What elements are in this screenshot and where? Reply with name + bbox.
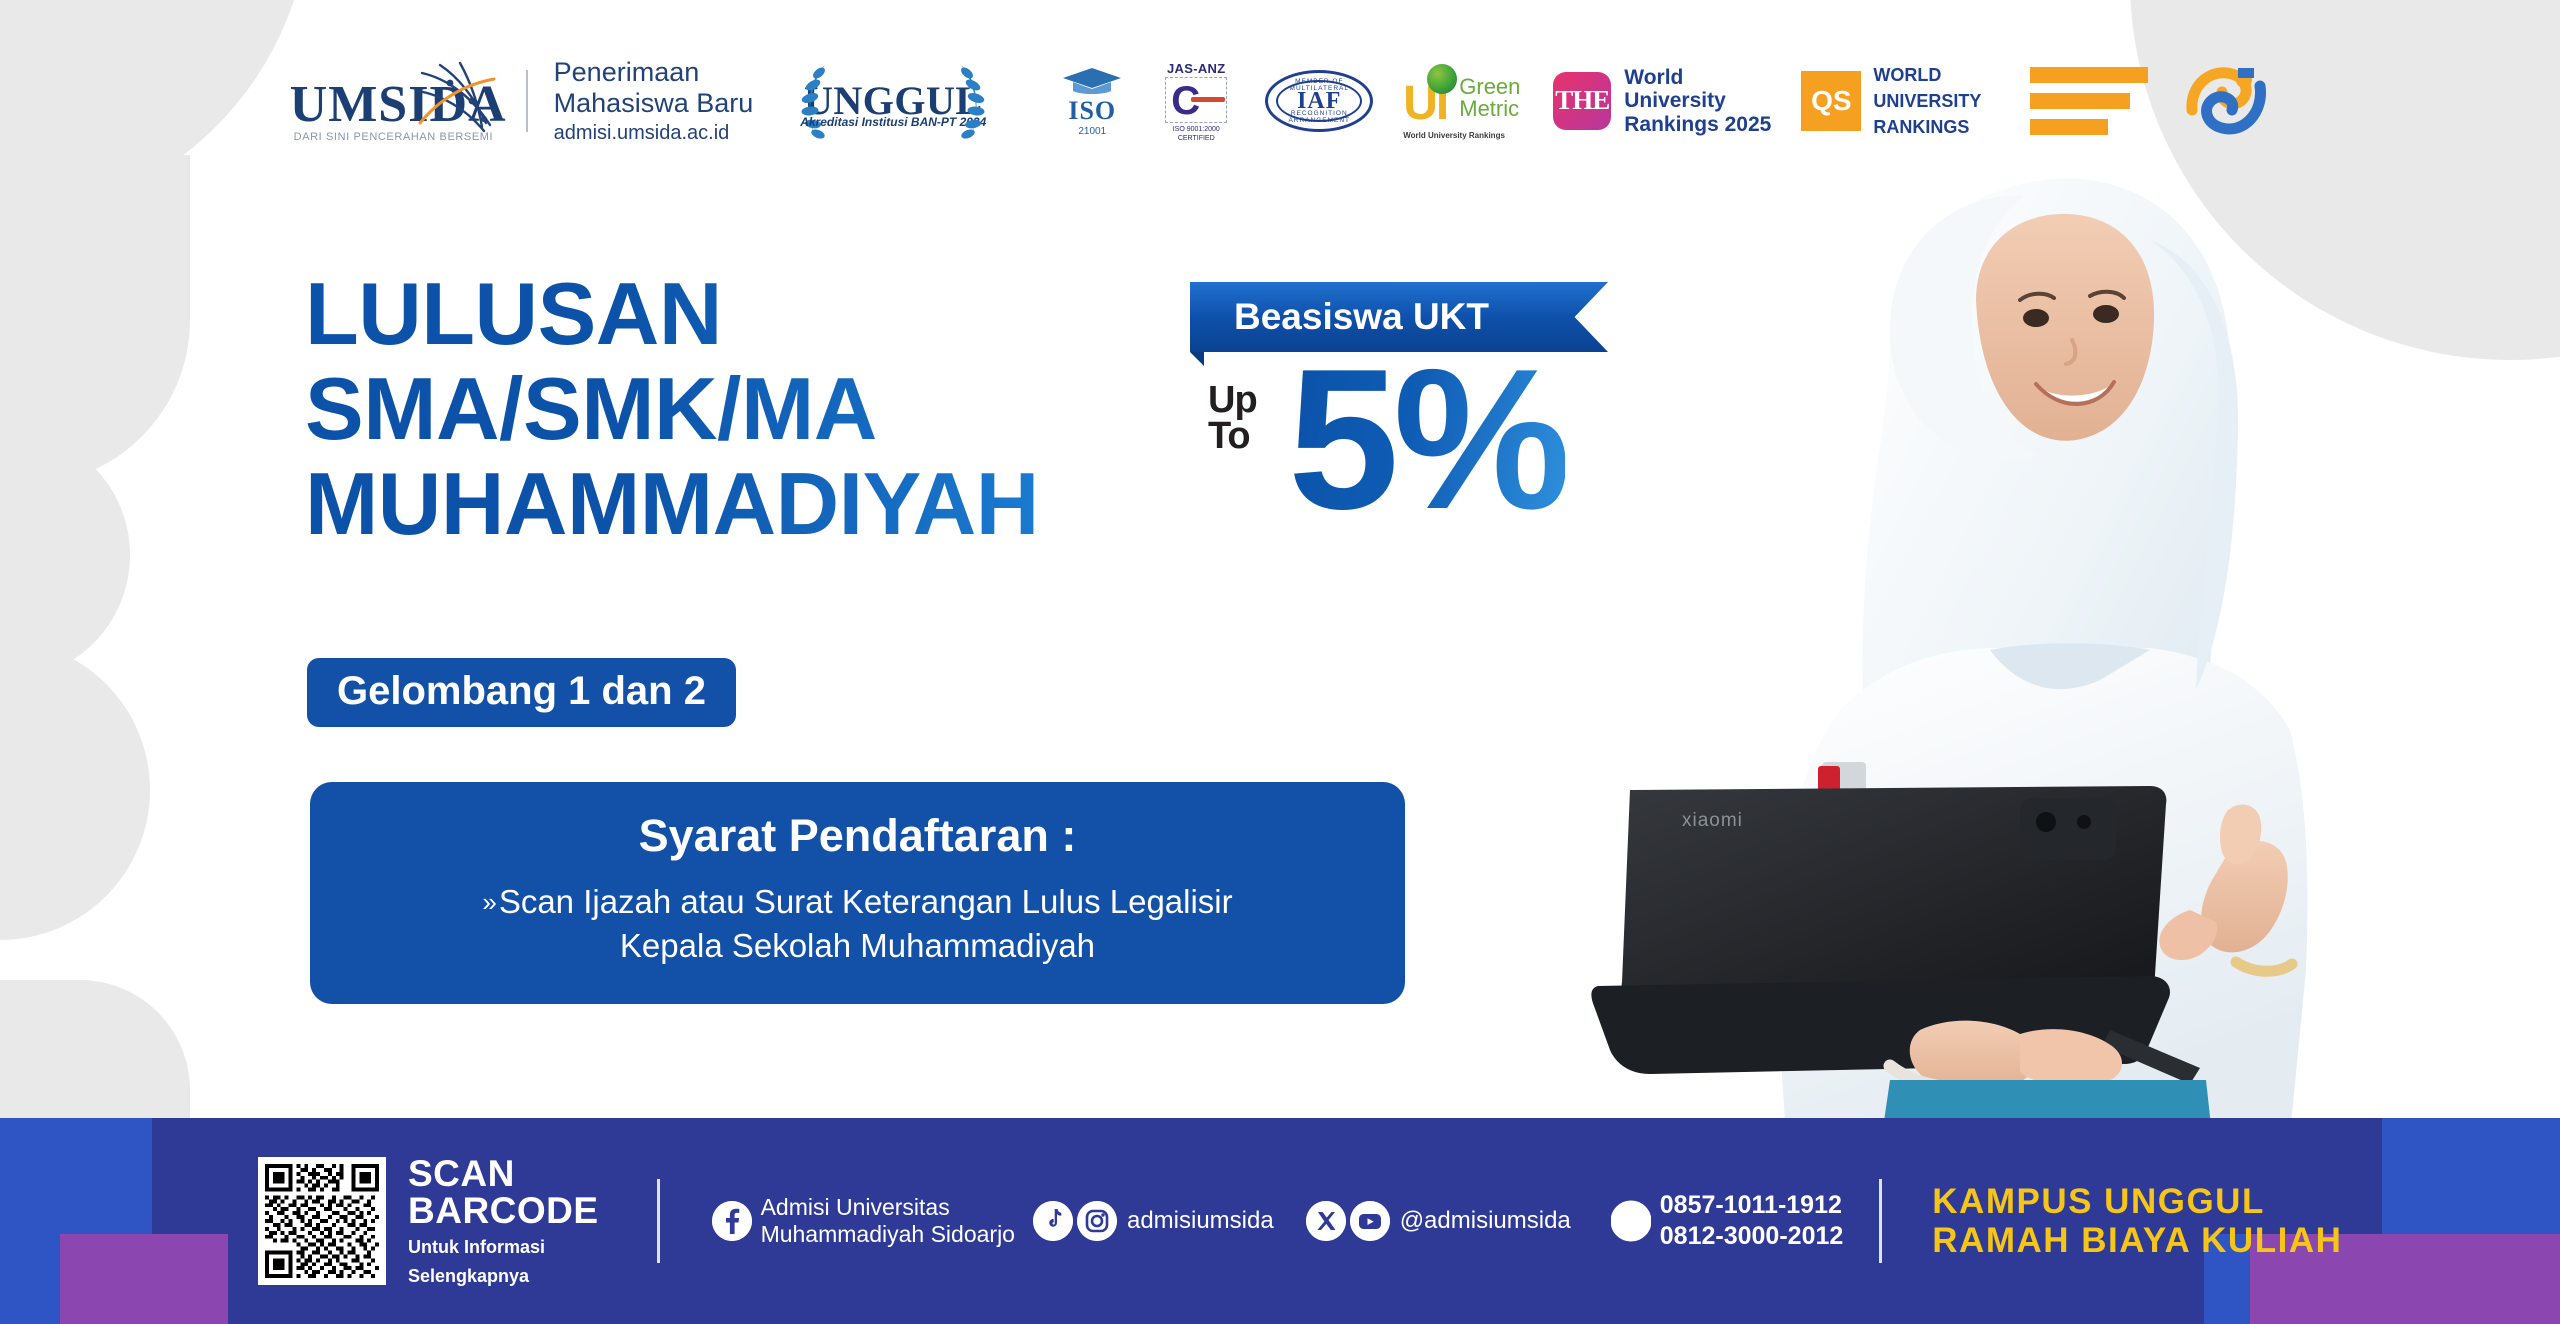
x-youtube-contact[interactable]: @admisiumsida <box>1306 1201 1571 1241</box>
header-logo-strip: UMSIDA DARI SINI PENCERAHAN BERSEMI <box>0 46 2560 156</box>
footer-divider-2 <box>1879 1179 1882 1263</box>
jas-anz-sub-1: ISO 9001:2000 <box>1173 126 1220 133</box>
ui-greenmetric-metric: Metric <box>1459 98 1520 120</box>
pmb-line-1: Penerimaan <box>554 57 754 88</box>
jas-anz-sub-2: CERTIFIED <box>1178 135 1215 142</box>
graduation-cap-icon <box>1061 66 1123 96</box>
qs-row-2: UNIVERSITY <box>1873 91 2148 112</box>
footer-divider-1 <box>657 1179 660 1263</box>
jas-anz-bar <box>1191 97 1225 102</box>
umsida-swoosh-icon <box>414 57 506 141</box>
the-rankings-text: World University Rankings 2025 <box>1624 66 1771 137</box>
ui-greenmetric-words: Green Metric <box>1459 76 1520 121</box>
tiktok-instagram-handle: admisiumsida <box>1127 1207 1274 1235</box>
ui-greenmetric-sub: World University Rankings <box>1403 131 1505 140</box>
qs-row-1: WORLD <box>1873 65 2148 86</box>
umsida-logo: UMSIDA DARI SINI PENCERAHAN BERSEMI <box>290 55 500 147</box>
requirements-title: Syarat Pendaftaran : <box>639 810 1077 862</box>
requirements-box: Syarat Pendaftaran : »Scan Ijazah atau S… <box>310 782 1405 1004</box>
headline-line-3: MUHAMMADIYAH <box>305 456 1039 551</box>
hero-headline: LULUSAN SMA/SMK/MA MUHAMMADIYAH <box>305 266 1039 551</box>
up-to-line-2: To <box>1208 418 1257 454</box>
umsida-logo-lockup: UMSIDA DARI SINI PENCERAHAN BERSEMI <box>290 55 754 147</box>
tiktok-icon <box>1033 1201 1073 1241</box>
facebook-icon <box>712 1201 752 1241</box>
facebook-contact[interactable]: Admisi Universitas Muhammadiyah Sidoarjo <box>712 1194 1015 1248</box>
globe-icon <box>1427 64 1457 94</box>
qs-bar-2 <box>2030 93 2130 109</box>
jas-anz-logo: JAS-ANZ C ISO 9001:2000 CERTIFIED <box>1157 61 1235 141</box>
headline-line-1: LULUSAN <box>305 266 1039 361</box>
up-to-label: Up To <box>1208 382 1257 454</box>
qs-line-3: RANKINGS <box>1873 117 2021 138</box>
qr-code-image <box>265 1164 379 1278</box>
tagline-line-2: RAMAH BIAYA KULIAH <box>1932 1221 2342 1260</box>
qr-code[interactable] <box>258 1157 386 1285</box>
the-mark: THE <box>1553 72 1611 130</box>
the-line-2: University <box>1624 89 1771 113</box>
youtube-icon <box>1350 1201 1390 1241</box>
phone-number-1: 0857-1011-1912 <box>1660 1191 1842 1219</box>
qs-row-3: RANKINGS <box>1873 117 2148 138</box>
qs-bar-1 <box>2030 67 2148 83</box>
the-line-1: World <box>1624 66 1771 90</box>
requirements-body: »Scan Ijazah atau Surat Keterangan Lulus… <box>482 880 1232 968</box>
tagline-line-1: KAMPUS UNGGUL <box>1932 1182 2342 1221</box>
requirements-line-1: Scan Ijazah atau Surat Keterangan Lulus … <box>499 883 1233 920</box>
footer-bar: SCAN BARCODE Untuk Informasi Selengkapny… <box>0 1118 2560 1324</box>
iaf-top-text: MEMBER OF MULTILATERAL <box>1268 78 1370 92</box>
scan-sub-2: Selengkapnya <box>408 1265 599 1288</box>
pmb-url: admisi.umsida.ac.id <box>554 122 754 145</box>
svg-text:xiaomi: xiaomi <box>1682 810 1743 831</box>
iso-certification-logo: ISO 21001 <box>1057 62 1127 140</box>
iso-wordmark: ISO <box>1057 96 1127 126</box>
whatsapp-icon <box>1611 1201 1651 1241</box>
scholarship-promo: Beasiswa UKT Up To 5% <box>1190 282 1608 364</box>
qs-mark: QS <box>1801 71 1861 131</box>
discount-percent: 5% <box>1288 340 1565 540</box>
certification-logos: ISO 21001 JAS-ANZ C ISO 9001:2000 CERTIF… <box>1057 58 2270 144</box>
pmb-text-block: Penerimaan Mahasiswa Baru admisi.umsida.… <box>554 57 754 145</box>
x-youtube-handle: @admisiumsida <box>1400 1207 1571 1235</box>
qs-line-2: UNIVERSITY <box>1873 91 2021 112</box>
student-photo: xiaomi <box>1590 150 2330 1135</box>
ui-greenmetric-green: Green <box>1459 76 1520 98</box>
ui-greenmetric-logo: UI Green Metric World University Ranking… <box>1403 62 1523 140</box>
facebook-line-2: Muhammadiyah Sidoarjo <box>761 1221 1015 1247</box>
whatsapp-numbers: 0857-1011-1912 0812-3000-2012 <box>1660 1190 1844 1253</box>
banner-root: UMSIDA DARI SINI PENCERAHAN BERSEMI <box>0 0 2560 1324</box>
headline-line-2: SMA/SMK/MA <box>305 361 1039 456</box>
qs-rankings-logo: QS WORLD UNIVERSITY RANKINGS <box>1801 65 2148 138</box>
wreath-right-icon <box>953 61 987 141</box>
facebook-line-1: Admisi Universitas <box>761 1194 950 1220</box>
phone-number-2: 0812-3000-2012 <box>1660 1222 1844 1250</box>
iaf-bottom-text: RECOGNITION ARRANGEMENT <box>1268 110 1370 124</box>
footer-contacts: Admisi Universitas Muhammadiyah Sidoarjo <box>712 1190 1844 1253</box>
ribbon-tail <box>1190 352 1204 366</box>
qs-bar-3 <box>2030 119 2108 135</box>
the-rankings-logo: THE World University Rankings 2025 <box>1553 66 1771 137</box>
up-to-line-1: Up <box>1208 382 1257 418</box>
qs-rankings-text: WORLD UNIVERSITY RANKINGS <box>1873 65 2148 138</box>
scan-line-1: SCAN <box>408 1155 599 1192</box>
scan-sub-1: Untuk Informasi <box>408 1236 599 1259</box>
header-divider <box>526 70 528 132</box>
x-twitter-icon <box>1306 1201 1346 1241</box>
scan-line-2: BARCODE <box>408 1192 599 1229</box>
facebook-text: Admisi Universitas Muhammadiyah Sidoarjo <box>761 1194 1015 1248</box>
jas-anz-title: JAS-ANZ <box>1157 61 1235 76</box>
qs-line-1: WORLD <box>1873 65 2021 86</box>
iso-number: 21001 <box>1057 126 1127 137</box>
instagram-icon <box>1077 1201 1117 1241</box>
requirements-chevron: » <box>482 887 496 917</box>
scan-barcode-block[interactable]: SCAN BARCODE Untuk Informasi Selengkapny… <box>258 1155 599 1288</box>
requirements-line-2: Kepala Sekolah Muhammadiyah <box>620 927 1095 964</box>
footer-content: SCAN BARCODE Untuk Informasi Selengkapny… <box>0 1118 2560 1324</box>
kemdikbud-tutwuri-logo <box>2184 58 2270 144</box>
scan-barcode-text: SCAN BARCODE Untuk Informasi Selengkapny… <box>408 1155 599 1288</box>
footer-tagline: KAMPUS UNGGUL RAMAH BIAYA KULIAH <box>1932 1182 2342 1260</box>
bg-shape-left-c <box>0 640 150 940</box>
iaf-logo: MEMBER OF MULTILATERAL IAF RECOGNITION A… <box>1265 70 1373 132</box>
jas-anz-sub: ISO 9001:2000 CERTIFIED <box>1157 126 1235 143</box>
pmb-line-2: Mahasiswa Baru <box>554 88 754 119</box>
the-line-3: Rankings 2025 <box>1624 113 1771 137</box>
gelombang-badge: Gelombang 1 dan 2 <box>307 658 736 727</box>
whatsapp-contact[interactable]: 0857-1011-1912 0812-3000-2012 <box>1611 1190 1844 1253</box>
wreath-left-icon <box>799 61 833 141</box>
tiktok-instagram-contact[interactable]: admisiumsida <box>1033 1201 1274 1241</box>
unggul-accreditation-badge: UNGGUL Akreditasi Institusi BAN-PT 2024 <box>793 53 993 149</box>
